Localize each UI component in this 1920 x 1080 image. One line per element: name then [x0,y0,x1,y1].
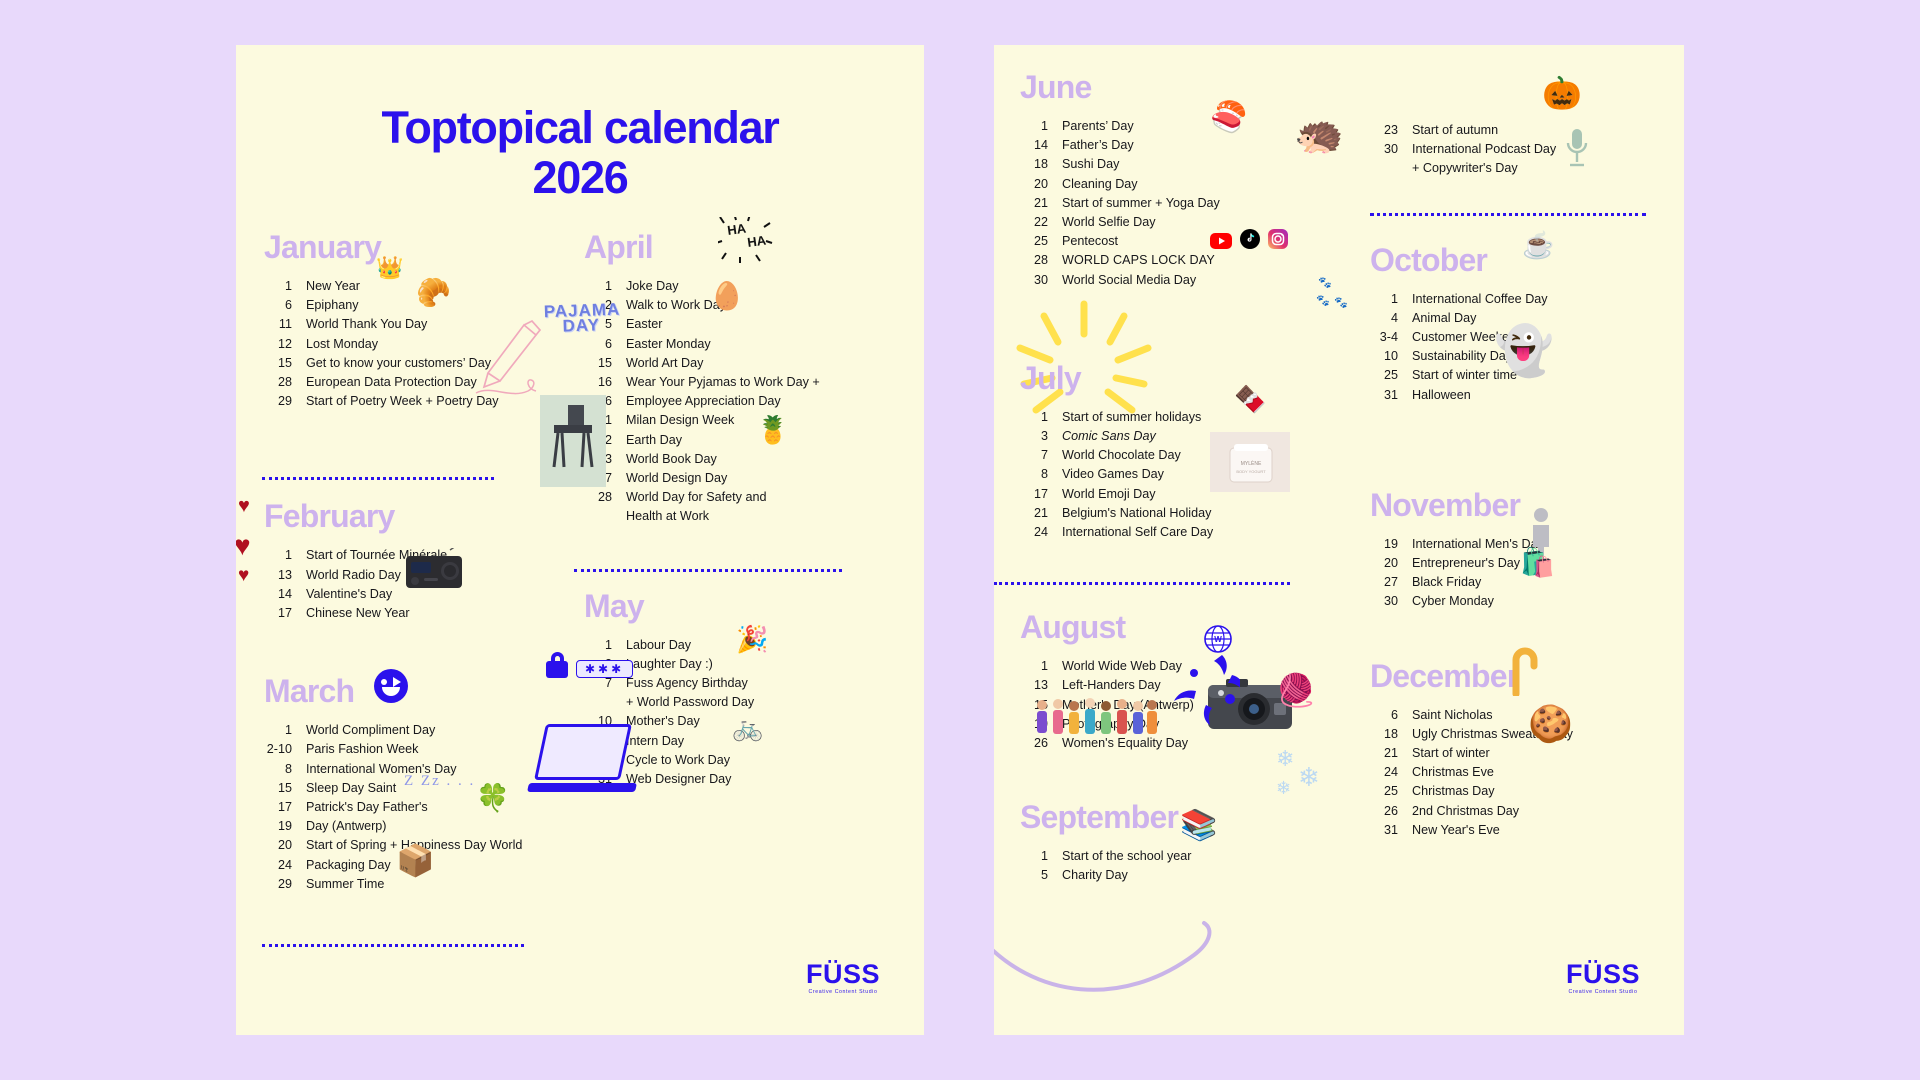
event-label: Health at Work [626,507,924,526]
month-title-february: February [264,500,536,532]
event-label: World Compliment Day [306,721,536,740]
event-day: 31 [584,770,626,789]
event-day: 5 [584,315,626,334]
event-day: 24 [1370,763,1412,782]
event-day: 18 [1020,155,1062,174]
list-item: 6Easter Monday [584,335,924,354]
event-label: World Social Media Day [1062,271,1342,290]
event-label: Patrick's Day Father's [306,798,536,817]
event-day: 28 [584,488,626,507]
brand-logo: FÜSS Creative Content Studio [806,961,880,995]
event-day: 19 [264,817,306,836]
list-item: 30International Podcast Day [1370,140,1684,159]
event-day [584,507,626,526]
event-day: 7 [1020,446,1062,465]
list-item: 24Christmas Eve [1370,763,1684,782]
section-divider [1370,213,1646,216]
event-label: Valentine's Day [306,585,536,604]
section-divider [994,582,1290,585]
event-day: 1 [584,636,626,655]
list-item: 28European Data Protection Day [264,373,536,392]
event-day: 5 [1020,866,1062,885]
event-label: Belgium's National Holiday [1062,504,1342,523]
list-item: 4Animal Day [1370,309,1684,328]
page-title: Toptopical calendar 2026 [236,45,924,203]
list-item: 23World Book Day [584,450,924,469]
event-label: Get to know your customers’ Day [306,354,536,373]
event-label: Easter [626,315,924,334]
list-item: 19Photography Day [1020,715,1342,734]
event-label: New Year [306,277,536,296]
event-list-february: 1Start of Tournée Minérale 13World Radio… [264,546,536,623]
left-column-b: April 1Joke Day 2Walk to Work Day 5Easte… [536,231,924,947]
event-label: Cycle to Work Day [626,751,924,770]
event-label: Earth Day [626,431,924,450]
event-day: 14 [1020,136,1062,155]
list-item: 25Christmas Day [1370,782,1684,801]
list-item: 1Labour Day [584,636,924,655]
event-label: Fuss Agency Birthday [626,674,924,693]
month-title-august: August [1020,611,1342,643]
event-day: 1 [264,546,306,565]
event-day: 6 [1370,706,1412,725]
event-label: World Chocolate Day [1062,446,1342,465]
event-day: 16 [584,392,626,411]
event-day: 6 [584,335,626,354]
event-label: World Emoji Day [1062,485,1342,504]
event-label: Start of autumn [1412,121,1684,140]
event-day: 1 [584,277,626,296]
event-label: World Design Day [626,469,924,488]
event-label: Black Friday [1412,573,1684,592]
list-item: 22Earth Day [584,431,924,450]
list-item: 25Intern Day [584,732,924,751]
event-day: 7 [584,674,626,693]
event-day: 15 [264,354,306,373]
event-label: Sustainability Day [1412,347,1684,366]
list-item: Health at Work [584,507,924,526]
event-day: 17 [1020,485,1062,504]
list-item: 1World Compliment Day [264,721,536,740]
logo-tagline: Creative Content Studio [806,990,880,995]
list-item: 27World Design Day [584,469,924,488]
event-day: 20 [1020,175,1062,194]
event-label: International Self Care Day [1062,523,1342,542]
list-item: 1Parents’ Day [1020,117,1342,136]
list-item: 15World Art Day [584,354,924,373]
event-label: European Data Protection Day [306,373,536,392]
event-day: 16 [584,373,626,392]
list-item: 20Start of Spring + Happiness Day World [264,836,536,855]
event-label: Start of Spring + Happiness Day World [306,836,536,855]
list-item: 16Employee Appreciation Day [584,392,924,411]
event-label: International Coffee Day [1412,290,1684,309]
list-item: 15Mother's Day (Antwerp) [1020,696,1342,715]
event-label: World Art Day [626,354,924,373]
event-day: 2 [584,296,626,315]
event-label: Saint Nicholas [1412,706,1684,725]
event-day: 31 [1370,386,1412,405]
list-item: 1International Coffee Day [1370,290,1684,309]
event-label: Sushi Day [1062,155,1342,174]
event-day: 1 [264,277,306,296]
month-title-september: September [1020,801,1342,833]
event-label: World Thank You Day [306,315,536,334]
event-day: 1 [1370,290,1412,309]
event-list-december: 6Saint Nicholas 18Ugly Christmas Sweater… [1370,706,1684,840]
event-label: Comic Sans Day [1062,427,1342,446]
list-item: 1Start of the school year [1020,847,1342,866]
event-list-october: 1International Coffee Day 4Animal Day 3-… [1370,290,1684,405]
event-day: 30 [1370,140,1412,159]
heart-icon: ♥ [236,532,251,560]
event-label: World Day for Safety and [626,488,924,507]
list-item: 21Milan Design Week [584,411,924,430]
event-label: Mother's Day (Antwerp) [1062,696,1342,715]
list-item: 1Start of summer holidays [1020,408,1342,427]
month-block-march: March 1World Compliment Day 2-10Paris Fa… [264,675,536,894]
event-label: Cleaning Day [1062,175,1342,194]
month-block-february: February 1Start of Tournée Minérale 13Wo… [264,500,536,623]
brand-logo: FÜSS Creative Content Studio [1566,961,1640,995]
event-day: 26 [1370,802,1412,821]
event-label: World Selfie Day [1062,213,1342,232]
event-day: 31 [1370,821,1412,840]
list-item: 2-10Paris Fashion Week [264,740,536,759]
event-label: Women's Equality Day [1062,734,1342,753]
event-day: 23 [584,450,626,469]
list-item: 17Chinese New Year [264,604,536,623]
event-day: 1 [1020,408,1062,427]
event-day: 25 [1370,366,1412,385]
event-day: 17 [264,798,306,817]
list-item: 13World Radio Day [264,566,536,585]
event-day: 12 [264,335,306,354]
event-label: Christmas Day [1412,782,1684,801]
logo-name: FÜSS [1566,959,1640,989]
list-item: 18Ugly Christmas Sweater Day [1370,725,1684,744]
list-item: 31New Year's Eve [1370,821,1684,840]
sun-rays-icon [1014,298,1154,420]
event-day: 22 [1020,213,1062,232]
list-item: 20Cleaning Day [1020,175,1342,194]
event-day: 1 [1020,657,1062,676]
event-day: 25 [584,732,626,751]
event-day: 11 [264,315,306,334]
list-item: 28Cycle to Work Day [584,751,924,770]
list-item: 28WORLD CAPS LOCK DAY [1020,251,1342,270]
month-title-december: December [1370,660,1684,692]
event-label: International Women's Day [306,760,536,779]
event-label: Labour Day [626,636,924,655]
event-day: 10 [584,712,626,731]
event-label: Day (Antwerp) [306,817,536,836]
event-day: 19 [1020,715,1062,734]
event-label: Web Designer Day [626,770,924,789]
event-label: World Radio Day [306,566,536,585]
event-label: Left-Handers Day [1062,676,1342,695]
list-item: 6Epiphany [264,296,536,315]
event-label: Entrepreneur's Day [1412,554,1684,573]
event-day: 26 [1020,734,1062,753]
event-label: Parents’ Day [1062,117,1342,136]
event-label: Start of Poetry Week + Poetry Day [306,392,536,411]
event-label: Paris Fashion Week [306,740,536,759]
list-item: 21Start of summer + Yoga Day [1020,194,1342,213]
event-label: Wear Your Pyjamas to Work Day + [626,373,924,392]
event-day: 14 [264,585,306,604]
list-item: 12Lost Monday [264,335,536,354]
event-day: 8 [1020,465,1062,484]
month-block-october: October 1International Coffee Day 4Anima… [1342,244,1684,405]
month-block-autumn: 23Start of autumn 30International Podcas… [1342,121,1684,179]
month-title-march: March [264,675,536,707]
list-item: 30World Social Media Day [1020,271,1342,290]
list-item: 2Walk to Work Day [584,296,924,315]
event-list-may: 1Labour Day 3Laughter Day :) 7Fuss Agenc… [584,636,924,790]
month-block-december: December 6Saint Nicholas 18Ugly Christma… [1342,660,1684,840]
list-item: 262nd Christmas Day [1370,802,1684,821]
list-item: 20Entrepreneur's Day [1370,554,1684,573]
left-column-a: January 1New Year 6Epiphany 11World Than… [236,231,536,947]
event-day: 27 [1370,573,1412,592]
event-label: Joke Day [626,277,924,296]
calendar-page-right: June 1Parents’ Day 14Father’s Day 18Sush… [994,45,1684,1035]
event-day [584,693,626,712]
event-day: 1 [264,721,306,740]
list-item: 6Saint Nicholas [1370,706,1684,725]
list-item: 14Valentine's Day [264,585,536,604]
pumpkin-icon: 🎃 [1542,77,1582,109]
event-day: 15 [1020,696,1062,715]
event-day: 6 [264,296,306,315]
event-day: 24 [264,856,306,875]
event-label: Walk to Work Day [626,296,924,315]
section-divider [262,477,494,480]
event-day: 28 [584,751,626,770]
event-label: Animal Day [1412,309,1684,328]
event-label: Ugly Christmas Sweater Day [1412,725,1684,744]
event-label: Father’s Day [1062,136,1342,155]
list-item: 31Halloween [1370,386,1684,405]
event-label: 2nd Christmas Day [1412,802,1684,821]
list-item: 21Start of winter [1370,744,1684,763]
list-item: 15Sleep Day Saint [264,779,536,798]
event-day: 1 [1020,117,1062,136]
list-item: 3Comic Sans Day [1020,427,1342,446]
event-label: WORLD CAPS LOCK DAY [1062,251,1342,270]
month-block-september: September 1Start of the school year 5Cha… [1020,801,1342,885]
event-day: 21 [1020,194,1062,213]
list-item: 8International Women's Day [264,760,536,779]
event-day: 22 [584,431,626,450]
heart-icon: ♥ [238,566,249,585]
event-label: Start of winter time [1412,366,1684,385]
list-item: 15Get to know your customers’ Day [264,354,536,373]
event-day: 15 [264,779,306,798]
event-day: 18 [1370,725,1412,744]
event-day: 13 [264,566,306,585]
event-list-june: 1Parents’ Day 14Father’s Day 18Sushi Day… [1020,117,1342,290]
title-line-1: Toptopical calendar [236,103,924,153]
month-title-january: January [264,231,536,263]
list-item: 17World Emoji Day [1020,485,1342,504]
list-item: 5Easter [584,315,924,334]
list-item: 10Mother's Day [584,712,924,731]
event-label: Mother's Day [626,712,924,731]
event-label: Photography Day [1062,715,1342,734]
event-label: Epiphany [306,296,536,315]
list-item: 26Women's Equality Day [1020,734,1342,753]
list-item: 1New Year [264,277,536,296]
event-day: 13 [1020,676,1062,695]
list-item: 8Video Games Day [1020,465,1342,484]
list-item: 22World Selfie Day [1020,213,1342,232]
event-day: 30 [1370,592,1412,611]
event-list-autumn: 23Start of autumn 30International Podcas… [1370,121,1684,179]
list-item: 10Sustainability Day [1370,347,1684,366]
event-label: International Podcast Day [1412,140,1684,159]
event-list-march: 1World Compliment Day 2-10Paris Fashion … [264,721,536,894]
lock-icon [546,652,568,678]
right-column-b: 23Start of autumn 30International Podcas… [1342,45,1684,1035]
month-title-october: October [1370,244,1684,276]
list-item: 28World Day for Safety and [584,488,924,507]
list-item: 13Left-Handers Day [1020,676,1342,695]
event-day: 3 [584,655,626,674]
event-label: Christmas Eve [1412,763,1684,782]
event-label: Start of winter [1412,744,1684,763]
event-day: 30 [1020,271,1062,290]
event-day: 29 [264,392,306,411]
month-title-july: July [1020,362,1342,394]
list-item: 18Sushi Day [1020,155,1342,174]
list-item: 3Laughter Day :) [584,655,924,674]
event-day: 20 [1370,554,1412,573]
month-title-november: November [1370,489,1684,521]
list-item: 1Joke Day [584,277,924,296]
event-label: Milan Design Week [626,411,924,430]
event-label: Employee Appreciation Day [626,392,924,411]
list-item: 27Black Friday [1370,573,1684,592]
logo-name: FÜSS [806,959,880,989]
event-label: International Men's Day [1412,535,1684,554]
event-day: 15 [584,354,626,373]
event-day: 28 [264,373,306,392]
event-label: + Copywriter's Day [1412,159,1684,178]
event-day: 2-10 [264,740,306,759]
event-day: 17 [264,604,306,623]
month-title-april: April [584,231,924,263]
month-title-may: May [584,590,924,622]
event-day: 21 [1020,504,1062,523]
list-item: 1Start of Tournée Minérale [264,546,536,565]
event-label: Video Games Day [1062,465,1342,484]
event-label: Sleep Day Saint [306,779,536,798]
event-label: Easter Monday [626,335,924,354]
event-day: 27 [584,469,626,488]
list-item: 16Wear Your Pyjamas to Work Day + [584,373,924,392]
wave-doodle [994,915,1234,1005]
event-list-july: 1Start of summer holidays 3Comic Sans Da… [1020,408,1342,542]
list-item: + Copywriter's Day [1370,159,1684,178]
event-day: 21 [584,411,626,430]
list-item: 21Belgium's National Holiday [1020,504,1342,523]
event-list-november: 19International Men's Day 20Entrepreneur… [1370,535,1684,612]
poster-canvas: Toptopical calendar 2026 January 1New Ye… [0,0,1920,1080]
event-day: 8 [264,760,306,779]
section-divider [574,569,842,572]
month-block-november: November 19International Men's Day 20Ent… [1342,489,1684,612]
event-label: World Wide Web Day [1062,657,1342,676]
month-block-july: July 1Start of summer holidays 3Comic Sa… [1020,362,1342,542]
event-day: 23 [1370,121,1412,140]
month-block-may: May 1Labour Day 3Laughter Day :) 7Fuss A… [584,590,924,790]
event-label: Start of the school year [1062,847,1342,866]
event-day: 3 [1020,427,1062,446]
event-day: 28 [1020,251,1062,270]
list-item: 23Start of autumn [1370,121,1684,140]
list-item: 24International Self Care Day [1020,523,1342,542]
event-label: Chinese New Year [306,604,536,623]
event-label: World Book Day [626,450,924,469]
event-label: Customer Weekend [1412,328,1684,347]
event-label: Cyber Monday [1412,592,1684,611]
event-label: Start of summer + Yoga Day [1062,194,1342,213]
section-divider [262,944,524,947]
heart-icon: ♥ [238,496,250,516]
list-item: 25Pentecost [1020,232,1342,251]
event-label: Pentecost [1062,232,1342,251]
event-label: Summer Time [306,875,536,894]
title-line-2: 2026 [236,153,924,203]
list-item: 19Day (Antwerp) [264,817,536,836]
list-item: 29Summer Time [264,875,536,894]
list-item: 19International Men's Day [1370,535,1684,554]
list-item: 3-4Customer Weekend [1370,328,1684,347]
event-list-august: 1World Wide Web Day 13Left-Handers Day 1… [1020,657,1342,753]
event-label: Halloween [1412,386,1684,405]
list-item: 7World Chocolate Day [1020,446,1342,465]
event-day: 29 [264,875,306,894]
event-list-april: 1Joke Day 2Walk to Work Day 5Easter 6Eas… [584,277,924,527]
event-day: 25 [1020,232,1062,251]
month-block-january: January 1New Year 6Epiphany 11World Than… [264,231,536,411]
event-day: 25 [1370,782,1412,801]
event-day: 1 [1020,847,1062,866]
event-label: Laughter Day :) [626,655,924,674]
event-day: 19 [1370,535,1412,554]
list-item: 30Cyber Monday [1370,592,1684,611]
event-label: Start of summer holidays [1062,408,1342,427]
right-column-a: June 1Parents’ Day 14Father’s Day 18Sush… [994,45,1342,1035]
list-item: 7Fuss Agency Birthday [584,674,924,693]
list-item: 11World Thank You Day [264,315,536,334]
month-title-june: June [1020,71,1342,103]
list-item: 5Charity Day [1020,866,1342,885]
logo-tagline: Creative Content Studio [1566,990,1640,995]
event-label: + World Password Day [626,693,924,712]
event-label: Intern Day [626,732,924,751]
calendar-page-left: Toptopical calendar 2026 January 1New Ye… [236,45,924,1035]
list-item: 17Patrick's Day Father's [264,798,536,817]
event-day: 24 [1020,523,1062,542]
event-day: 20 [264,836,306,855]
list-item: 29Start of Poetry Week + Poetry Day [264,392,536,411]
month-block-june: June 1Parents’ Day 14Father’s Day 18Sush… [1020,71,1342,290]
event-label: Charity Day [1062,866,1342,885]
month-block-august: August 1World Wide Web Day 13Left-Hander… [1020,611,1342,753]
